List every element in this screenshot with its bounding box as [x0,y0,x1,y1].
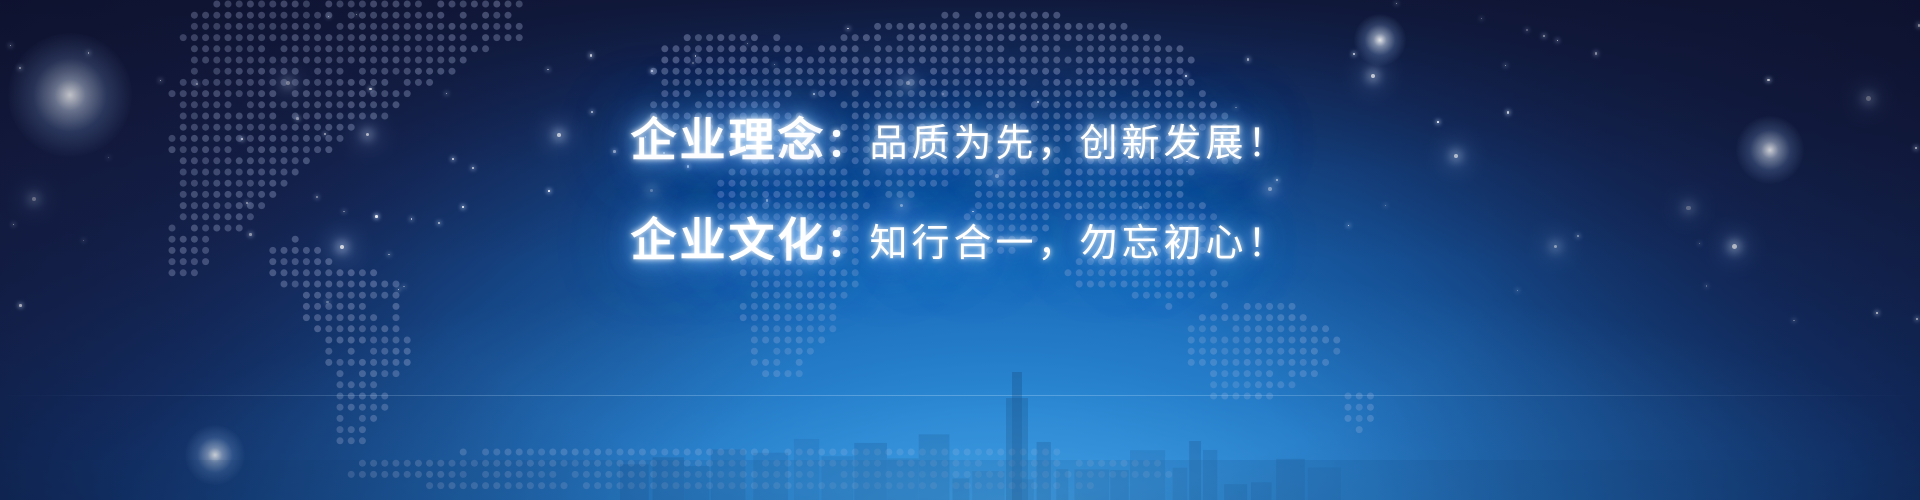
corporate-philosophy-banner: 企业理念：品质为先，创新发展！ 企业文化：知行合一，勿忘初心！ [0,0,1920,500]
tagline-2-body: 知行合一，勿忘初心！ [869,223,1289,265]
tagline-1-lead: 企业理念 [630,114,826,166]
tagline-line-culture: 企业文化：知行合一，勿忘初心！ [0,204,1920,270]
tagline-2-lead: 企业文化 [630,214,826,266]
tagline-1-body: 品质为先，创新发展！ [869,123,1289,165]
tagline-2-colon: ： [826,221,869,265]
tagline-1-colon: ： [826,121,869,165]
tagline-block: 企业理念：品质为先，创新发展！ 企业文化：知行合一，勿忘初心！ [0,104,1920,270]
tagline-line-philosophy: 企业理念：品质为先，创新发展！ [0,104,1920,170]
